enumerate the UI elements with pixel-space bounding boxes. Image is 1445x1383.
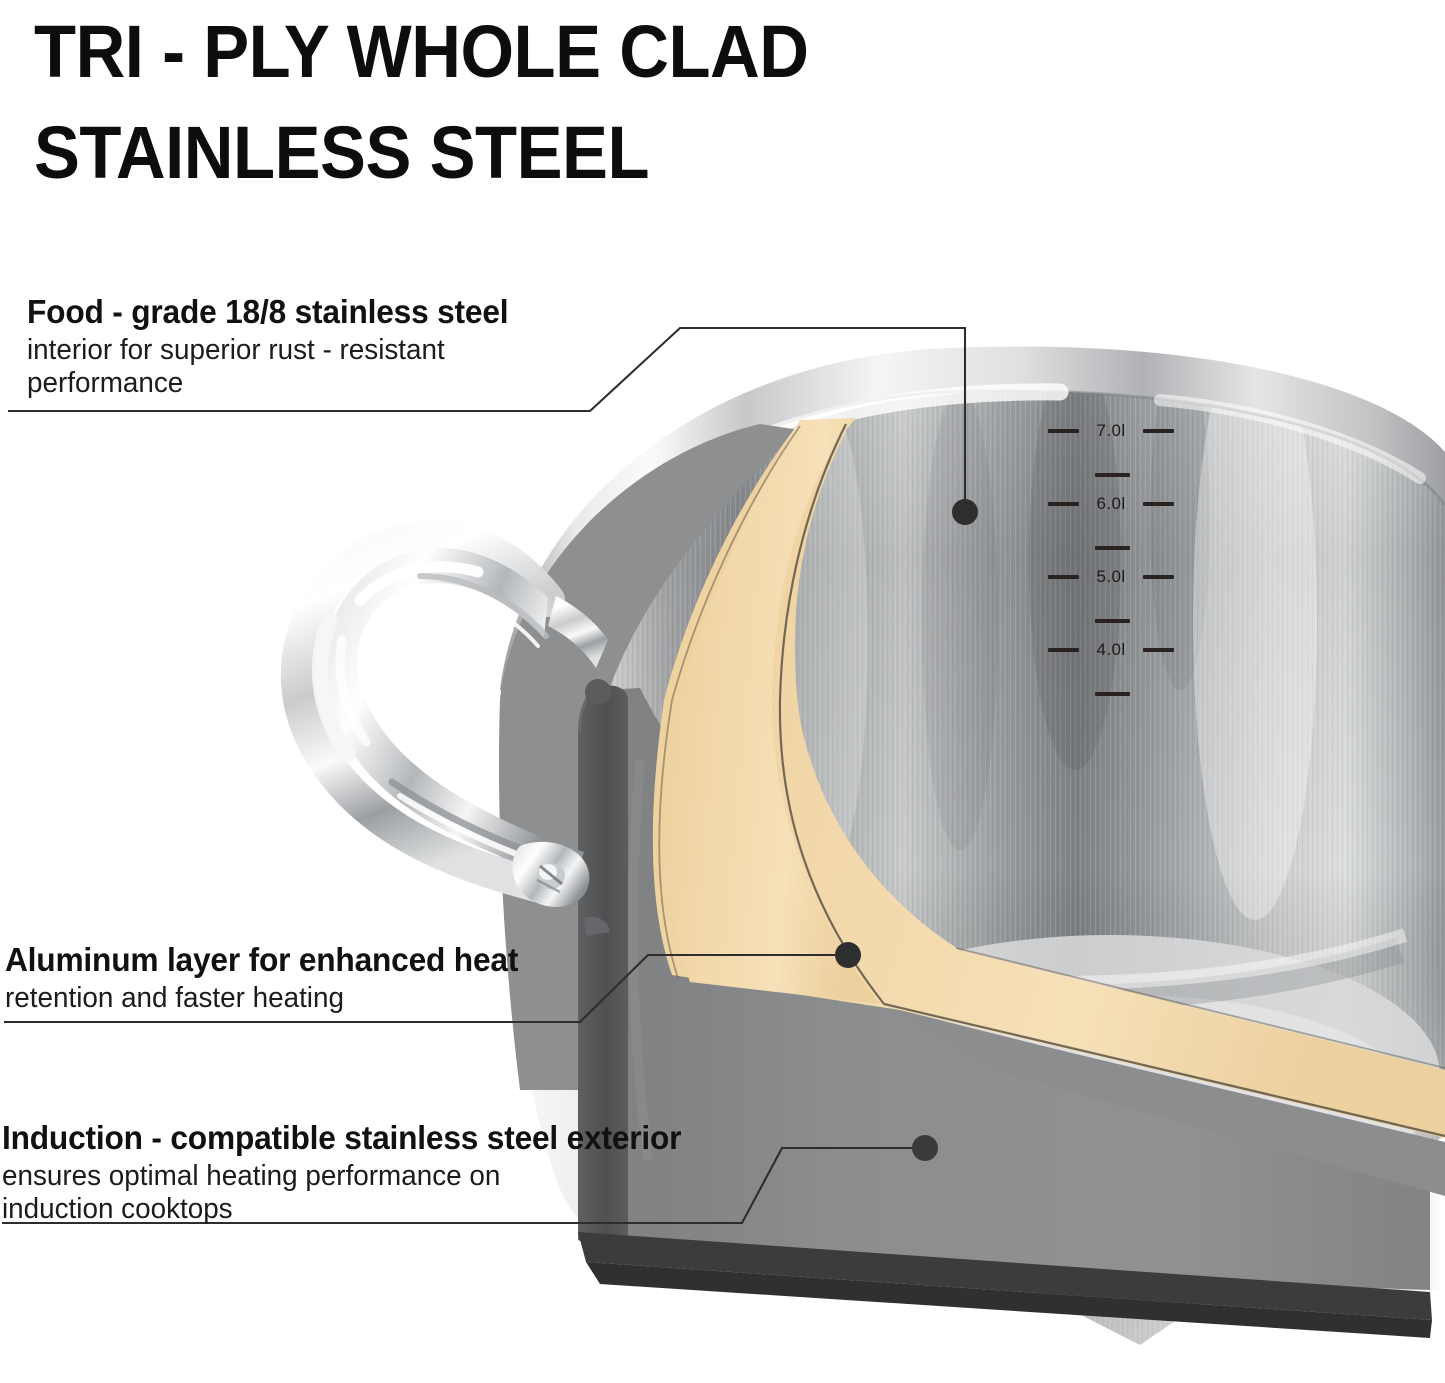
callout-food-grade: Food - grade 18/8 stainless steel interi… [27, 292, 528, 400]
callout-heading: Aluminum layer for enhanced heat [5, 940, 518, 980]
callout-heading: Induction - compatible stainless steel e… [2, 1118, 681, 1158]
scale-minor-tick [1095, 546, 1130, 550]
callout-body: interior for superior rust - resistant p… [27, 334, 508, 400]
scale-minor-tick [1095, 692, 1130, 696]
scale-mark-7l: 7.0l [1046, 420, 1176, 442]
scale-minor-tick [1095, 619, 1130, 623]
scale-dash-right [1143, 429, 1174, 433]
scale-mark-4l: 4.0l [1046, 639, 1176, 661]
scale-mark-6l: 6.0l [1046, 493, 1176, 515]
callout-body: retention and faster heating [5, 982, 518, 1015]
callout-aluminum-layer: Aluminum layer for enhanced heat retenti… [5, 940, 540, 1015]
infographic-page: 7.0l 6.0l 5.0l 4.0l [0, 0, 1445, 1383]
callout-heading: Food - grade 18/8 stainless steel [27, 292, 508, 332]
callout-body: ensures optimal heating performance on i… [2, 1160, 681, 1226]
scale-dash-right [1143, 502, 1174, 506]
measurement-scale: 7.0l 6.0l 5.0l 4.0l [1046, 420, 1176, 680]
scale-mark-5l: 5.0l [1046, 566, 1176, 588]
scale-minor-tick [1095, 473, 1130, 477]
callout-induction-exterior: Induction - compatible stainless steel e… [2, 1118, 710, 1226]
scale-dash-right [1143, 575, 1174, 579]
scale-dash-right [1143, 648, 1174, 652]
